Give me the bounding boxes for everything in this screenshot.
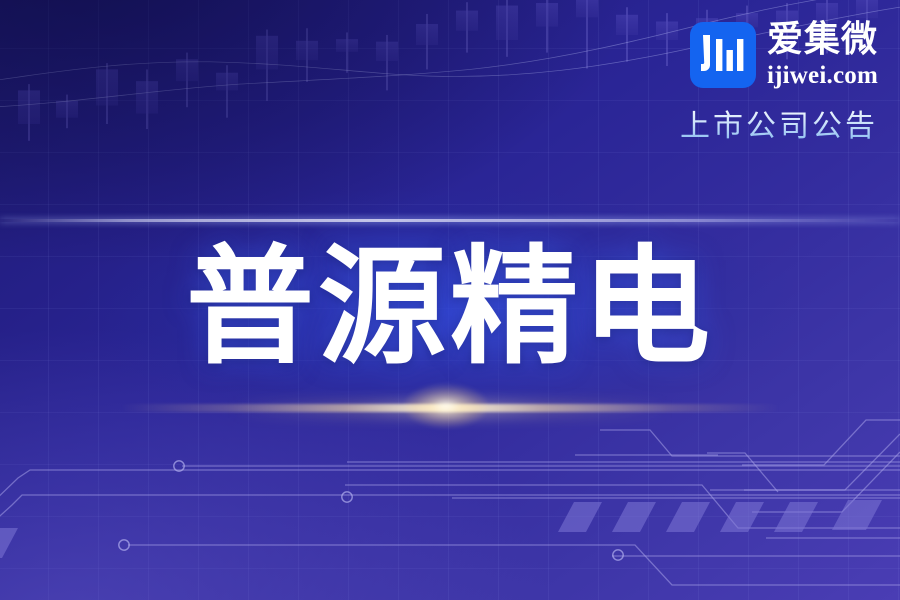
brand-domain: ijiwei.com: [767, 63, 878, 88]
chart-divider-line: [0, 219, 900, 222]
announcement-banner: 普源精电 爱集微 ijiwei.com 上市公司公告: [0, 0, 900, 600]
bar-chart-logo-icon: [690, 22, 756, 88]
branding-block: 爱集微 ijiwei.com 上市公司公告: [656, 22, 878, 145]
banner-subtitle: 上市公司公告: [656, 101, 878, 145]
logo-wordmark: 爱集微 ijiwei.com: [767, 22, 878, 88]
brand-name-cn: 爱集微: [767, 22, 878, 58]
logo-row: 爱集微 ijiwei.com: [656, 22, 878, 88]
lens-flare-core: [404, 384, 488, 428]
page-title: 普源精电: [0, 238, 900, 379]
